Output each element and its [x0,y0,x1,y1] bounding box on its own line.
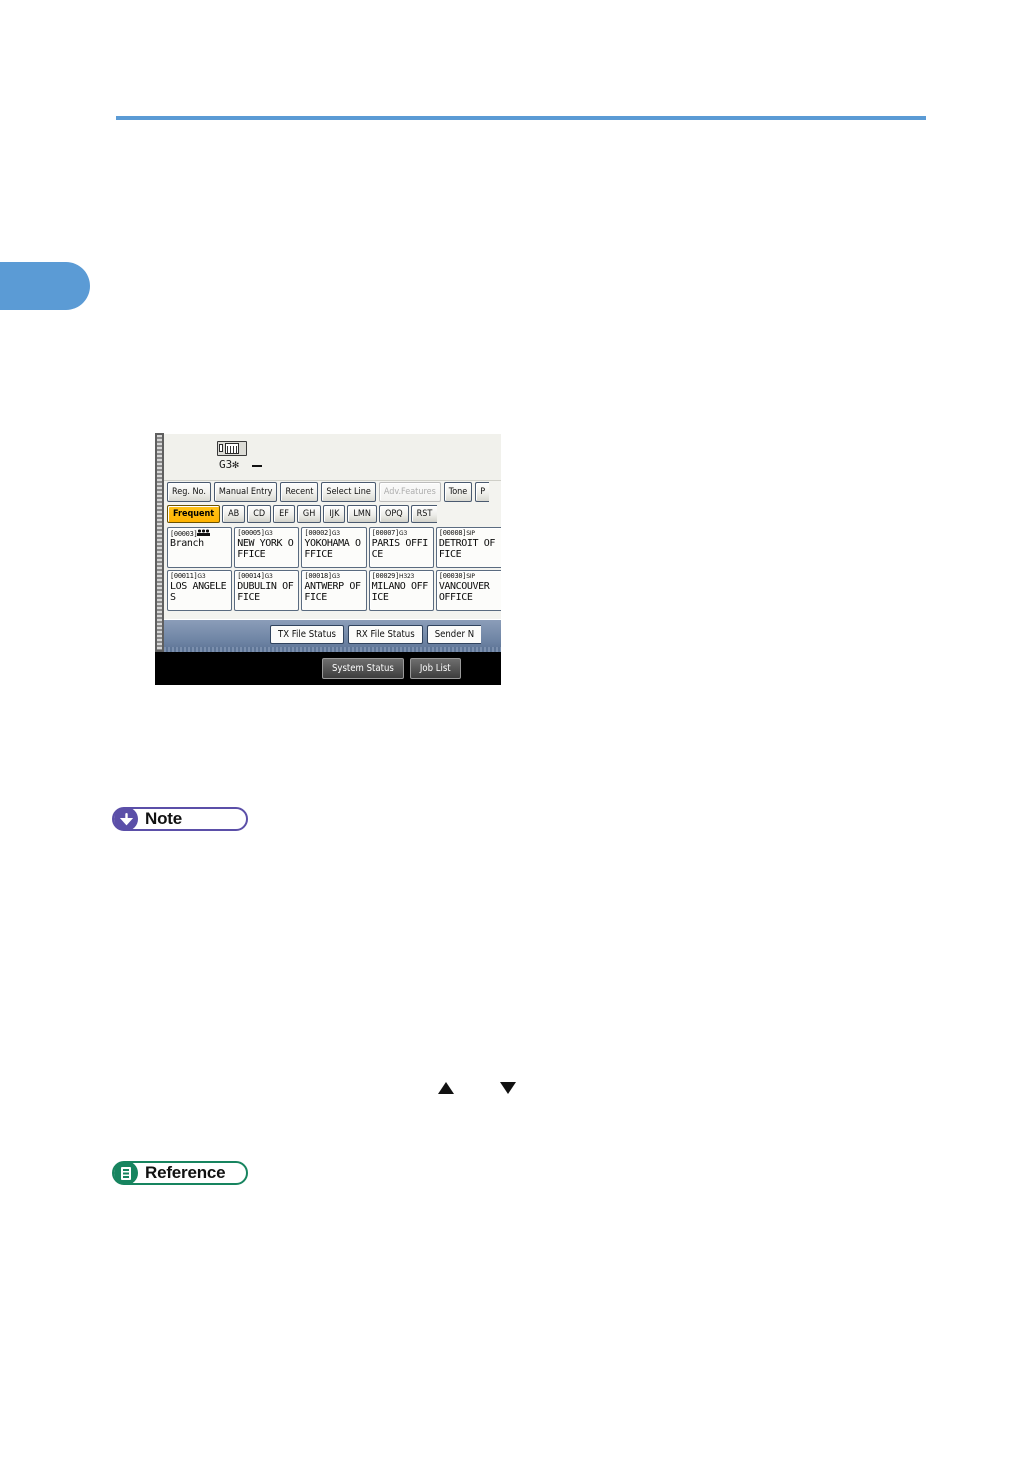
function-button-row: Reg. No. Manual Entry Recent Select Line… [167,482,501,504]
arrow-up-icon [438,1082,454,1094]
destination-name: Branch [170,538,230,549]
destination-meta: [00007]G3 [372,529,407,537]
destination-meta: [00008]SIP [439,529,475,537]
destination-name: ANTWERP OFFICE [304,581,364,603]
machine-footer-bar: System Status Job List [155,652,501,685]
tone-button[interactable]: Tone [444,482,472,502]
destination-key-antwerp-office[interactable]: [00018]G3 ANTWERP OFFICE [301,570,366,611]
destination-reg-no: [00029] [372,572,399,580]
destination-reg-no: [00007] [372,529,399,537]
destination-name: VANCOUVER OFFICE [439,581,500,603]
destination-key-branch[interactable]: [00003] Branch [167,527,232,568]
group-icon [197,529,210,536]
destination-reg-no: [00003] [170,530,197,538]
reference-callout-label: Reference [145,1163,225,1183]
tab-gh[interactable]: GH [297,505,321,523]
destination-kind: SIP [466,573,475,580]
select-line-button[interactable]: Select Line [321,482,375,502]
lcd-status-bar: TX File Status RX File Status Sender N [164,619,501,652]
line-indicator-label: G3✻ [219,458,239,471]
destination-name: NEW YORK OFFICE [237,538,297,560]
destination-name: MILANO OFFICE [372,581,432,603]
alpha-tab-row: Frequent AB CD EF GH IJK LMN OPQ RST [167,505,501,525]
destination-kind: G3 [197,573,205,580]
destination-reg-no: [00002] [304,529,331,537]
destination-key-milano-office[interactable]: [00029]H323 MILANO OFFICE [369,570,434,611]
scroll-arrow-glyphs [438,1080,528,1096]
down-arrow-icon [114,807,138,831]
note-callout-label: Note [145,809,182,829]
tab-frequent[interactable]: Frequent [167,505,220,523]
system-status-button[interactable]: System Status [322,658,404,679]
machine-button-group: System Status Job List [322,658,461,679]
destination-key-dubulin-office[interactable]: [00014]G3 DUBULIN OFFICE [234,570,299,611]
destination-meta: [00030]SIP [439,572,475,580]
destination-meta: [00018]G3 [304,572,339,580]
fax-machine-icon [217,439,247,458]
panel-left-rail [155,433,164,652]
destination-name: DETROIT OFFICE [439,538,500,560]
document-icon [114,1161,138,1185]
destination-name: PARIS OFFICE [372,538,432,560]
destination-kind: G3 [332,530,340,537]
page-header-rule [116,116,926,120]
destination-key-new-york-office[interactable]: [00005]G3 NEW YORK OFFICE [234,527,299,568]
tab-ijk[interactable]: IJK [323,505,345,523]
lcd-status-zone: G3✻ [164,434,501,481]
destination-reg-no: [00005] [237,529,264,537]
adv-features-button: Adv.Features [379,482,441,502]
destination-meta: [00005]G3 [237,529,272,537]
destination-name: YOKOHAMA OFFICE [304,538,364,560]
destination-grid: [00003] Branch [00005]G3 NEW YORK OFFICE… [167,527,501,611]
destination-kind: SIP [466,530,475,537]
arrow-down-icon [500,1082,516,1094]
destination-row: [00011]G3 LOS ANGELES [00014]G3 DUBULIN … [167,570,501,611]
tab-opq[interactable]: OPQ [379,505,409,523]
number-entry-caret [252,465,262,467]
destination-key-yokohama-office[interactable]: [00002]G3 YOKOHAMA OFFICE [301,527,366,568]
destination-key-paris-office[interactable]: [00007]G3 PARIS OFFICE [369,527,434,568]
destination-kind: G3 [332,573,340,580]
destination-reg-no: [00030] [439,572,466,580]
note-callout-badge: Note [112,807,248,831]
recent-button[interactable]: Recent [280,482,318,502]
destination-kind: H323 [399,573,414,580]
destination-reg-no: [00008] [439,529,466,537]
destination-row: [00003] Branch [00005]G3 NEW YORK OFFICE… [167,527,501,568]
tab-ab[interactable]: AB [222,505,245,523]
destination-meta: [00002]G3 [304,529,339,537]
tab-ef[interactable]: EF [273,505,295,523]
destination-kind: G3 [399,530,407,537]
destination-name: DUBULIN OFFICE [237,581,297,603]
destination-meta: [00003] [170,529,210,538]
job-list-button[interactable]: Job List [410,658,461,679]
tx-file-status-button[interactable]: TX File Status [270,625,344,644]
destination-meta: [00011]G3 [170,572,205,580]
rx-file-status-button[interactable]: RX File Status [348,625,423,644]
destination-reg-no: [00011] [170,572,197,580]
tab-rst[interactable]: RST [411,505,438,523]
sender-name-button[interactable]: Sender N [427,625,481,644]
destination-key-los-angeles[interactable]: [00011]G3 LOS ANGELES [167,570,232,611]
destination-reg-no: [00014] [237,572,264,580]
destination-kind: G3 [265,530,273,537]
chapter-thumb-tab [0,262,90,310]
reg-no-button[interactable]: Reg. No. [167,482,211,502]
manual-entry-button[interactable]: Manual Entry [214,482,278,502]
destination-meta: [00029]H323 [372,572,415,580]
tab-lmn[interactable]: LMN [347,505,377,523]
destination-meta: [00014]G3 [237,572,272,580]
tab-cd[interactable]: CD [247,505,271,523]
pause-button[interactable]: P [475,482,489,502]
destination-reg-no: [00018] [304,572,331,580]
destination-key-detroit-office[interactable]: [00008]SIP DETROIT OFFICE [436,527,501,568]
operation-panel-figure: G3✻ Reg. No. Manual Entry Recent Select … [155,433,501,685]
destination-kind: G3 [265,573,273,580]
status-button-group: TX File Status RX File Status Sender N [270,625,481,644]
destination-key-vancouver-office[interactable]: [00030]SIP VANCOUVER OFFICE [436,570,501,611]
destination-name: LOS ANGELES [170,581,230,603]
reference-callout-badge: Reference [112,1161,248,1185]
